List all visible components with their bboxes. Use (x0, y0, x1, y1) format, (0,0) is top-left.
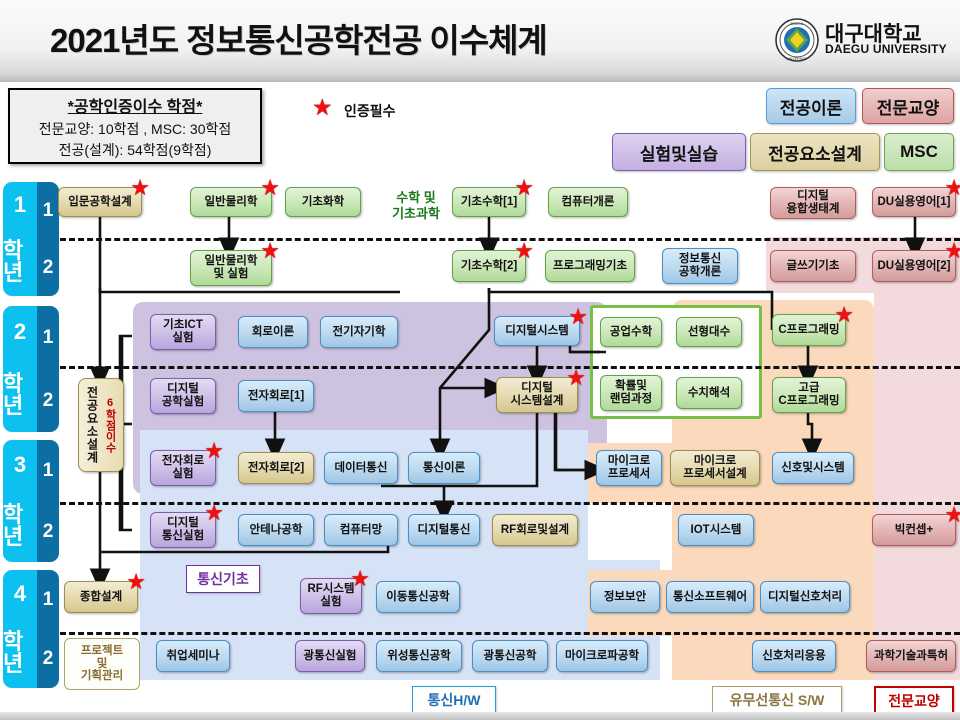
course-label-line1: 전자회로 (162, 455, 204, 468)
group-label-comm-basic: 통신기초 (186, 565, 260, 593)
group-label-math-line1: 수학 및 (374, 190, 458, 206)
star-icon: ★ (568, 306, 588, 328)
star-icon: ★ (944, 177, 960, 199)
course-label: 일반물리학 (205, 196, 258, 209)
course-box-infosec[interactable]: 정보보안 (590, 581, 660, 613)
star-icon: ★ (350, 568, 370, 590)
course-box-dsp[interactable]: 디지털신호처리 (760, 581, 850, 613)
course-box-rf-circuit[interactable]: RF회로및설계 (492, 514, 578, 546)
course-label: 정보보안 (604, 591, 646, 604)
star-icon: ★ (130, 177, 150, 199)
credits-line-2: 전문교양: 10학점 , MSC: 30학점 (10, 119, 260, 139)
course-label: 위성통신공학 (387, 650, 450, 663)
course-box-microwave[interactable]: 마이크로파공학 (556, 640, 648, 672)
course-label: 신호처리응용 (762, 650, 825, 663)
course-label: 전자회로[1] (248, 390, 304, 403)
credits-line-3: 전공(설계): 54학점(9학점) (10, 140, 260, 160)
semester-1-1: 1 (37, 182, 59, 239)
course-box-du-eng1[interactable]: DU실용영어[1] ★ (872, 187, 956, 217)
star-icon: ★ (834, 304, 854, 326)
separator-y4 (60, 632, 960, 635)
course-label-line1: 디지털 (521, 382, 553, 395)
course-box-digital-sys-design[interactable]: 디지털 시스템설계 ★ (496, 377, 578, 413)
course-label: DU실용영어[2] (878, 260, 951, 273)
course-label: 광통신공학 (484, 650, 537, 663)
semester-1-2: 2 (37, 239, 59, 296)
course-box-du-eng2[interactable]: DU실용영어[2] ★ (872, 250, 956, 282)
semester-3-1: 1 (37, 440, 59, 501)
course-label-line2: 공학개론 (679, 266, 721, 279)
course-label: 디지털신호처리 (768, 591, 842, 604)
course-box-data-comm[interactable]: 데이터통신 (324, 452, 398, 484)
course-label: 데이터통신 (335, 462, 388, 475)
course-box-micro-design[interactable]: 마이크로 프로세서설계 (670, 450, 760, 486)
credits-info-box: *공학인증이수 학점* 전문교양: 10학점 , MSC: 30학점 전공(설계… (8, 88, 262, 164)
course-label-line2: 실험 (320, 596, 341, 609)
legend-chip-lab[interactable]: 실험및실습 (612, 133, 746, 171)
course-label-line1: 확률및 (615, 380, 647, 393)
group-label-math-line2: 기초과학 (374, 206, 458, 222)
legend-chip-msc[interactable]: MSC (884, 133, 954, 171)
course-box-computer-intro[interactable]: 컴퓨터개론 (548, 187, 628, 217)
course-label-line2: 실험 (172, 332, 193, 345)
course-box-antenna[interactable]: 안테나공학 (238, 514, 314, 546)
course-box-sci-patent[interactable]: 과학기술과특허 (866, 640, 956, 672)
region-liberal (874, 237, 960, 680)
group-label-math: 수학 및 기초과학 (374, 190, 458, 221)
course-box-gicho-chem[interactable]: 기초화학 (285, 187, 361, 217)
university-logo: DAEGU UNIVERSITY 대구대학교 DAEGU UNIVERSITY (775, 16, 955, 68)
course-label: 종합설계 (80, 591, 122, 604)
course-box-prog-basic[interactable]: 프로그래밍기초 (545, 250, 635, 282)
course-box-comm-theory[interactable]: 통신이론 (408, 452, 480, 484)
course-box-adv-c[interactable]: 고급 C프로그래밍 (772, 377, 846, 413)
course-label: 프로그래밍기초 (553, 260, 627, 273)
star-icon: ★ (204, 440, 224, 462)
course-box-numerical[interactable]: 수치해석 (676, 377, 742, 409)
course-box-c-prog[interactable]: C프로그래밍 ★ (772, 314, 846, 346)
course-box-iot[interactable]: IOT시스템 (678, 514, 754, 546)
year-number-1: 1 (14, 194, 26, 216)
star-icon: ★ (514, 177, 534, 199)
year-label-2: 2 학년 (3, 306, 37, 432)
course-label-line1: 기초ICT (163, 319, 203, 332)
star-icon: ★ (260, 240, 280, 262)
course-box-ipmun[interactable]: 입문공학설계 ★ (58, 187, 142, 217)
course-label: 전자회로[2] (248, 462, 304, 475)
course-box-digital-comm[interactable]: 디지털통신 (408, 514, 480, 546)
course-box-eng-math[interactable]: 공업수학 (600, 317, 662, 347)
course-label: 통신소프트웨어 (673, 591, 747, 604)
course-box-micro[interactable]: 마이크로 프로세서 (596, 450, 662, 486)
star-icon: ★ (514, 240, 534, 262)
credits-line-1: *공학인증이수 학점* (10, 93, 260, 117)
course-box-electronics-lab[interactable]: 전자회로 실험 ★ (150, 450, 216, 486)
star-icon: ★ (944, 504, 960, 526)
course-label: 빅컨셉+ (895, 524, 933, 537)
university-emblem-icon: DAEGU UNIVERSITY (775, 18, 819, 62)
course-label-line1: 정보통신 (679, 253, 721, 266)
course-label: DU실용영어[1] (878, 196, 951, 209)
course-label-line1: 디지털 (167, 517, 199, 530)
course-label: 기초수학[2] (461, 260, 517, 273)
course-label-line1: 디지털 (797, 190, 829, 203)
course-label: RF회로및설계 (501, 524, 569, 537)
separator-y2 (60, 366, 960, 369)
course-box-optical[interactable]: 광통신공학 (472, 640, 548, 672)
year-number-2: 2 (14, 321, 26, 343)
course-box-mobile-comm[interactable]: 이동통신공학 (376, 581, 460, 613)
year-suffix-4: 학년 (3, 631, 37, 675)
star-icon: ★ (566, 367, 586, 389)
course-box-linear-algebra[interactable]: 선형대수 (676, 317, 742, 347)
course-box-signals-systems[interactable]: 신호및시스템 (772, 452, 854, 484)
svg-text:DAEGU: DAEGU (791, 22, 804, 26)
course-label: 회로이론 (252, 326, 294, 339)
page-header: 2021년도 정보통신공학전공 이수체계 DAEGU UNIVERSITY 대구… (0, 0, 960, 82)
course-label-line2: 프로세서 (608, 468, 650, 481)
course-label: 취업세미나 (167, 650, 220, 663)
course-label: C프로그래밍 (778, 324, 839, 337)
course-box-rf-lab[interactable]: RF시스템 실험 ★ (300, 578, 362, 614)
year-block-1: 1 학년 1 2 (3, 182, 59, 296)
course-label: 수치해석 (688, 387, 730, 400)
course-label-line1: 고급 (798, 382, 819, 395)
year-suffix-1: 학년 (3, 240, 37, 284)
course-label-line1: 마이크로 (608, 455, 650, 468)
course-label: 과학기술과특허 (874, 650, 948, 663)
course-label: 공업수학 (610, 326, 652, 339)
vertical-design-label: 전공요소설계 (84, 386, 101, 464)
course-box-gicho-math1[interactable]: 기초수학[1] ★ (452, 187, 526, 217)
semester-4-2: 2 (37, 629, 59, 688)
course-label: IOT시스템 (691, 524, 742, 537)
legend-chip-design[interactable]: 전공요소설계 (750, 133, 880, 171)
year-number-3: 3 (14, 454, 26, 476)
course-label: 컴퓨터망 (340, 524, 382, 537)
year-suffix-2: 학년 (3, 373, 37, 417)
course-label-line2: 및 (97, 658, 108, 671)
star-icon: ★ (312, 94, 333, 120)
course-box-digital-eco[interactable]: 디지털 융합생태계 (770, 187, 856, 219)
course-label-line3: 기획관리 (81, 670, 123, 683)
course-box-digital-comm-lab[interactable]: 디지털 통신실험 ★ (150, 512, 216, 548)
course-box-ilban-physics[interactable]: 일반물리학 ★ (190, 187, 272, 217)
year-block-4: 4 학년 1 2 (3, 570, 59, 688)
semester-3-2: 2 (37, 501, 59, 562)
legend-chip-theory[interactable]: 전공이론 (766, 88, 856, 124)
course-label-line2: 공학실험 (162, 396, 204, 409)
course-label-line2: 및 실험 (214, 268, 249, 281)
course-label: 디지털시스템 (505, 325, 568, 338)
course-label: 광통신실험 (304, 650, 357, 663)
semester-col-3: 1 2 (37, 440, 59, 562)
course-label: 안테나공학 (250, 524, 303, 537)
course-label: 기초수학[1] (461, 196, 517, 209)
course-box-comm-sw[interactable]: 통신소프트웨어 (666, 581, 754, 613)
course-box-prob-random[interactable]: 확률및 랜덤과정 (600, 375, 662, 411)
course-box-emag[interactable]: 전기자기학 (320, 316, 398, 348)
vertical-design-requirement-box[interactable]: 전공요소설계 6학점이수 (78, 378, 124, 472)
course-label-line2: 융합생태계 (787, 203, 840, 216)
course-label-line2: C프로그래밍 (778, 395, 839, 408)
year-label-3: 3 학년 (3, 440, 37, 562)
course-label: 신호및시스템 (781, 462, 844, 475)
svg-text:UNIVERSITY: UNIVERSITY (786, 57, 808, 61)
course-box-digital-eng-lab[interactable]: 디지털 공학실험 (150, 378, 216, 414)
course-box-electronics1[interactable]: 전자회로[1] (238, 380, 314, 412)
semester-col-2: 1 2 (37, 306, 59, 432)
course-box-ict-lab[interactable]: 기초ICT 실험 (150, 314, 216, 350)
group-label-comm-sw: 유무선통신 S/W (712, 686, 842, 714)
course-box-ict-intro[interactable]: 정보통신 공학개론 (662, 248, 738, 284)
separator-y3 (60, 502, 960, 505)
star-icon: ★ (204, 502, 224, 524)
course-label: 입문공학설계 (68, 196, 131, 209)
year-number-4: 4 (14, 583, 26, 605)
course-box-gicho-math2[interactable]: 기초수학[2] ★ (452, 250, 526, 282)
course-label: 마이크로파공학 (565, 650, 639, 663)
course-label-line2: 랜덤과정 (610, 393, 652, 406)
year-label-4: 4 학년 (3, 570, 37, 688)
year-suffix-3: 학년 (3, 504, 37, 548)
semester-col-4: 1 2 (37, 570, 59, 688)
university-name-en: DAEGU UNIVERSITY (825, 42, 947, 56)
star-legend-label: 인증필수 (344, 101, 396, 121)
semester-2-2: 2 (37, 369, 59, 432)
separator-y1 (60, 238, 960, 241)
course-label-line1: 디지털 (167, 383, 199, 396)
year-block-2: 2 학년 1 2 (3, 306, 59, 432)
year-block-3: 3 학년 1 2 (3, 440, 59, 562)
course-label-line2: 통신실험 (162, 530, 204, 543)
course-label: 디지털통신 (418, 524, 471, 537)
footer-strip (0, 712, 960, 720)
course-box-ilban-physics-lab[interactable]: 일반물리학 및 실험 ★ (190, 250, 272, 286)
star-icon: ★ (944, 240, 960, 262)
star-icon: ★ (126, 571, 146, 593)
semester-col-1: 1 2 (37, 182, 59, 296)
star-icon: ★ (260, 177, 280, 199)
course-box-satellite[interactable]: 위성통신공학 (376, 640, 462, 672)
star-legend: ★ 인증필수 (312, 96, 492, 122)
course-label: 전기자기학 (333, 326, 386, 339)
course-box-electronics2[interactable]: 전자회로[2] (238, 452, 314, 484)
course-label-line2: 실험 (172, 468, 193, 481)
legend-chip-liberal[interactable]: 전문교양 (862, 88, 954, 124)
course-box-project[interactable]: 프로젝트 및 기획관리 (64, 638, 140, 690)
course-box-capstone[interactable]: 종합설계 ★ (64, 581, 138, 613)
course-label-line1: 일반물리학 (205, 255, 258, 268)
course-label: 기초화학 (302, 196, 344, 209)
course-box-job-seminar[interactable]: 취업세미나 (156, 640, 230, 672)
course-label: 통신이론 (423, 462, 465, 475)
course-label-line2: 시스템설계 (511, 395, 564, 408)
course-box-optical-lab[interactable]: 광통신실험 (295, 640, 365, 672)
course-label-line2: 프로세서설계 (683, 468, 746, 481)
course-label: 컴퓨터개론 (562, 196, 615, 209)
vertical-design-note: 6학점이수 (102, 397, 118, 453)
course-label: 이동통신공학 (386, 591, 449, 604)
course-box-computer-net[interactable]: 컴퓨터망 (324, 514, 398, 546)
course-box-bigconcept[interactable]: 빅컨셉+ ★ (872, 514, 956, 546)
semester-2-1: 1 (37, 306, 59, 369)
page-title: 2021년도 정보통신공학전공 이수체계 (50, 14, 547, 62)
course-box-circuit-theory[interactable]: 회로이론 (238, 316, 308, 348)
course-box-dsp-app[interactable]: 신호처리응용 (752, 640, 836, 672)
year-label-1: 1 학년 (3, 182, 37, 296)
course-label-line1: 프로젝트 (81, 645, 123, 658)
course-label-line1: RF시스템 (307, 583, 354, 596)
course-label: 글쓰기기초 (787, 260, 840, 273)
course-label-line1: 마이크로 (694, 455, 736, 468)
group-label-comm-hw: 통신H/W (412, 686, 496, 714)
semester-4-1: 1 (37, 570, 59, 629)
course-box-writing-basic[interactable]: 글쓰기기초 (770, 250, 856, 282)
course-box-digital-system[interactable]: 디지털시스템 ★ (494, 316, 580, 346)
course-label: 선형대수 (688, 326, 730, 339)
